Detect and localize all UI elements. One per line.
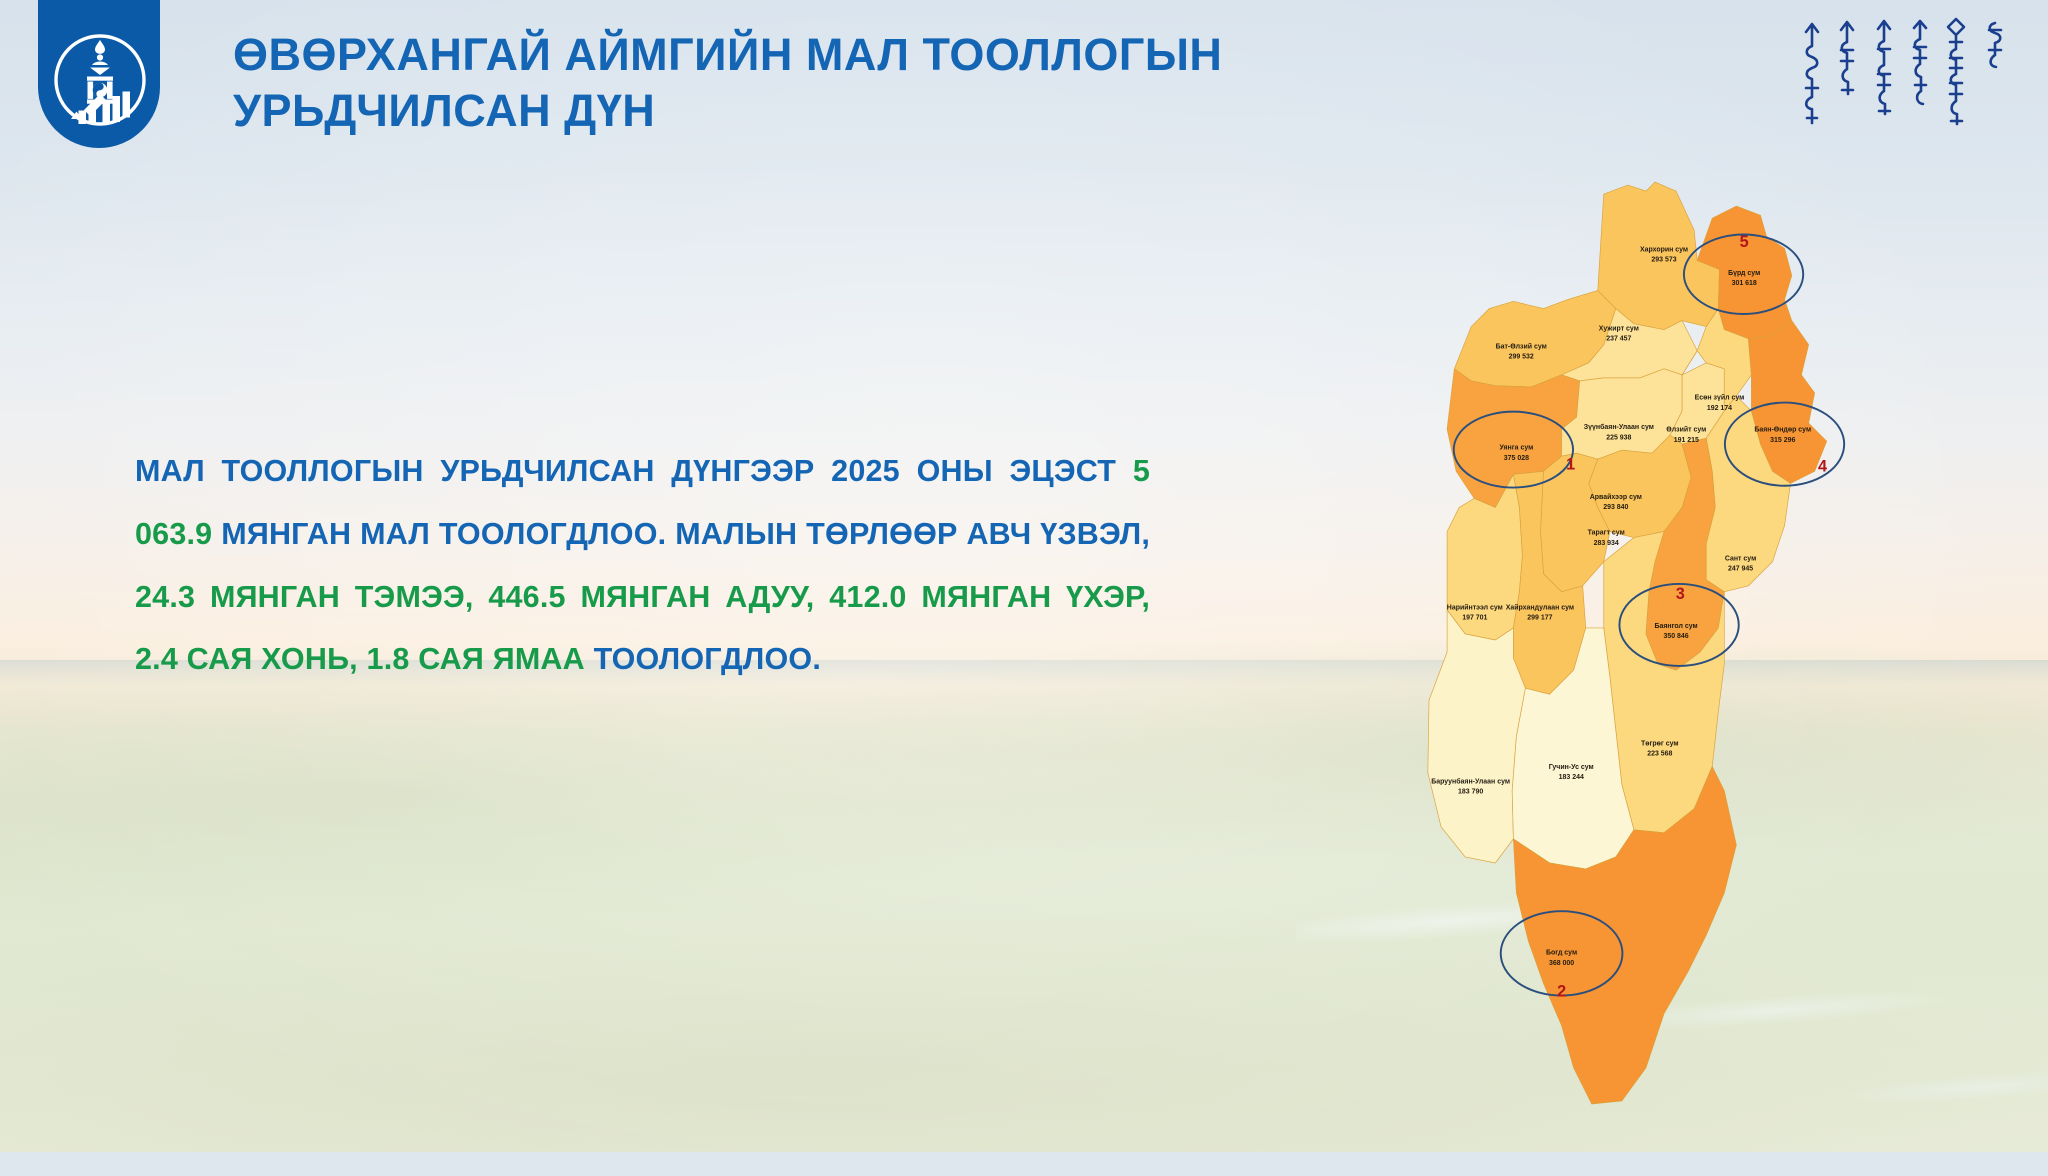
district-label-bat-olzii: Бат-Өлзий сум (1496, 342, 1547, 350)
district-rank-bayan-ondor: 4 (1818, 457, 1827, 475)
district-value-togrog: 223 568 (1647, 751, 1672, 758)
district-value-bayangol: 350 846 (1663, 633, 1688, 640)
district-label-sant: Сант сум (1725, 555, 1756, 562)
mongolia-soyombo-statistics-emblem (54, 24, 146, 129)
district-value-guchin-us: 183 244 (1559, 774, 1584, 781)
district-label-bayan-ondor: Баян-Өндөр сум (1754, 427, 1811, 434)
district-value-yesonzuil: 192 174 (1707, 405, 1732, 412)
district-label-yesonzuil: Есөн зүйл сум (1695, 394, 1745, 402)
district-value-arvaikheer: 293 840 (1603, 504, 1628, 511)
district-label-arvaikheer: Арвайхээр сум (1590, 493, 1642, 501)
district-label-zuunbayan: Зүүнбаян-Улаан сум (1584, 423, 1654, 431)
district-value-sant: 247 945 (1728, 566, 1753, 573)
summary-segment-3: ТООЛОГДЛОО. (594, 642, 821, 676)
district-value-olziit: 191 215 (1674, 437, 1699, 444)
district-label-khujirt: Хужирт сум (1599, 325, 1639, 332)
district-shape-baruunbayan (1428, 610, 1526, 863)
page-title-line-2: УРЬДЧИЛСАН ДҮН (233, 83, 1563, 139)
district-value-baruunbayan: 183 790 (1458, 789, 1483, 796)
district-value-bayan-ondor: 315 296 (1770, 437, 1795, 444)
district-label-guchin-us: Гучин-Ус сум (1549, 764, 1594, 771)
district-label-uyanga: Уянга сум (1499, 445, 1533, 452)
district-rank-uyanga: 1 (1566, 455, 1575, 473)
district-value-khairkhandulaan: 299 177 (1527, 615, 1552, 622)
district-value-khujirt: 237 457 (1606, 336, 1631, 343)
summary-paragraph: МАЛ ТООЛЛОГЫН УРЬДЧИЛСАН ДҮНГЭЭР 2025 ОН… (135, 440, 1150, 691)
map-svg: Хархорин сум293 573Бат-Өлзий сум299 532Х… (1268, 170, 2048, 1110)
district-label-taragt: Тарагт сум (1588, 530, 1625, 537)
district-label-bogd: Богд сум (1546, 950, 1577, 957)
district-value-nariinteel: 197 701 (1462, 615, 1487, 622)
district-rank-bogd: 2 (1557, 983, 1566, 1001)
summary-segment-1: МАЛ ТООЛЛОГЫН УРЬДЧИЛСАН ДҮНГЭЭР 2025 ОН… (135, 454, 1133, 488)
district-label-baruunbayan: Баруунбаян-Улаан сум (1431, 777, 1510, 785)
district-value-burd: 301 618 (1732, 280, 1757, 287)
district-label-bayangol: Баянгол сум (1654, 623, 1697, 630)
district-value-kharkhorin: 293 573 (1651, 257, 1676, 264)
district-value-bogd: 368 000 (1549, 960, 1574, 967)
traditional-mongolian-vertical-script (1796, 8, 2028, 156)
page-title: ӨВӨРХАНГАЙ АЙМГИЙН МАЛ ТООЛЛОГЫН УРЬДЧИЛ… (233, 27, 1563, 139)
district-value-zuunbayan: 225 938 (1606, 434, 1631, 441)
district-rank-bayangol: 3 (1676, 585, 1685, 603)
district-value-uyanga: 375 028 (1504, 455, 1529, 462)
page-title-line-1: ӨВӨРХАНГАЙ АЙМГИЙН МАЛ ТООЛЛОГЫН (233, 27, 1563, 83)
district-label-khairkhandulaan: Хайрхандулаан сум (1506, 603, 1574, 611)
overkhangai-province-map: Хархорин сум293 573Бат-Өлзий сум299 532Х… (1268, 170, 2048, 1110)
district-label-kharkhorin: Хархорин сум (1640, 246, 1688, 253)
district-value-taragt: 283 934 (1594, 540, 1619, 547)
summary-segment-2: МЯНГАН МАЛ ТООЛОГДЛОО. МАЛЫН ТӨРЛӨӨР АВЧ… (212, 517, 1150, 551)
district-value-bat-olzii: 299 532 (1509, 354, 1534, 361)
district-label-olziit: Өлзийт сум (1666, 426, 1706, 434)
district-label-togrog: Төгрөг сум (1641, 740, 1679, 747)
district-label-nariinteel: Нарийнтээл сум (1447, 603, 1503, 611)
district-label-burd: Бүрд сум (1728, 270, 1760, 277)
district-rank-burd: 5 (1740, 233, 1749, 251)
